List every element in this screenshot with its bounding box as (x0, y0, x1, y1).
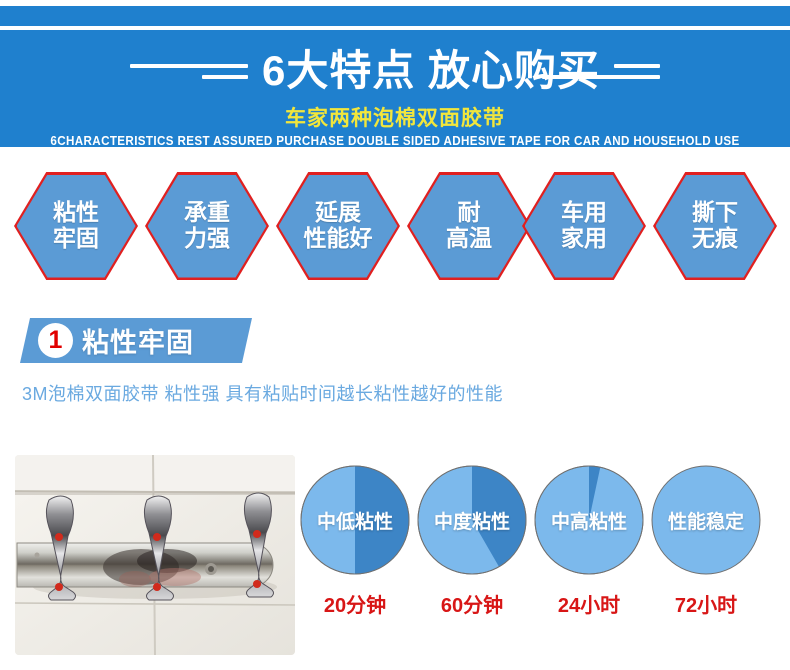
equals-decoration-right-icon (614, 64, 660, 79)
feature-line-1: 延展 (315, 200, 361, 226)
feature-line-1: 撕下 (692, 200, 738, 226)
pie-chart-item-1: 中低粘性 20分钟 (300, 465, 410, 575)
feature-hexagon-6[interactable]: 撕下 无痕 (653, 172, 777, 280)
page-title: 6大特点 放心购买 (248, 46, 614, 96)
product-photo (15, 455, 295, 655)
section-title: 粘性牢固 (82, 318, 194, 363)
feature-hexagon-row: 粘性 牢固 承重 力强 延展 性能好 耐 高温 (0, 172, 790, 280)
pie-chart-3: 中高粘性 (534, 465, 644, 575)
header-subtitle: 车家两种泡棉双面胶带 (0, 102, 790, 132)
header-banner: 6大特点 放心购买 车家两种泡棉双面胶带 6CHARACTERISTICS RE… (0, 30, 790, 147)
pie-chart-4-svg (651, 465, 761, 575)
pie-chart-2-svg (417, 465, 527, 575)
pie-chart-item-3: 中高粘性 24小时 (534, 465, 644, 575)
feature-hexagon-4[interactable]: 耐 高温 (407, 172, 531, 280)
feature-line-2: 高温 (446, 226, 492, 252)
feature-hexagon-label: 承重 力强 (145, 172, 269, 280)
feature-hexagon-3[interactable]: 延展 性能好 (276, 172, 400, 280)
top-accent-strip (0, 6, 790, 26)
feature-hexagon-5[interactable]: 车用 家用 (522, 172, 646, 280)
feature-line-2: 家用 (561, 226, 607, 252)
pie-chart-4-caption: 72小时 (651, 589, 761, 618)
feature-line-1: 车用 (561, 200, 607, 226)
pie-chart-1-caption: 20分钟 (300, 589, 410, 618)
section-number-badge: 1 (38, 323, 73, 358)
feature-hexagon-label: 延展 性能好 (276, 172, 400, 280)
feature-hexagon-2[interactable]: 承重 力强 (145, 172, 269, 280)
feature-hexagon-label: 撕下 无痕 (653, 172, 777, 280)
feature-hexagon-label: 耐 高温 (407, 172, 531, 280)
feature-line-1: 耐 (458, 200, 481, 226)
pie-chart-3-caption: 24小时 (534, 589, 644, 618)
feature-line-2: 牢固 (53, 226, 99, 252)
hook-rack-photo-illustration (15, 455, 295, 655)
pie-chart-2: 中度粘性 (417, 465, 527, 575)
pie-chart-2-caption: 60分钟 (417, 589, 527, 618)
feature-hexagon-label: 车用 家用 (522, 172, 646, 280)
section-description: 3M泡棉双面胶带 粘性强 具有粘贴时间越长粘性越好的性能 (22, 380, 503, 406)
feature-line-2: 无痕 (692, 226, 738, 252)
product-detail-page: 6大特点 放心购买 车家两种泡棉双面胶带 6CHARACTERISTICS RE… (0, 0, 790, 670)
pie-chart-1-svg (300, 465, 410, 575)
pie-chart-item-4: 性能稳定 72小时 (651, 465, 761, 575)
feature-hexagon-1[interactable]: 粘性 牢固 (14, 172, 138, 280)
pie-chart-4: 性能稳定 (651, 465, 761, 575)
feature-line-1: 粘性 (53, 200, 99, 226)
pie-chart-3-svg (534, 465, 644, 575)
equals-decoration-left-icon (130, 64, 248, 79)
feature-line-2: 性能好 (304, 226, 373, 252)
feature-line-1: 承重 (184, 200, 230, 226)
header-title-row: 6大特点 放心购买 (0, 46, 790, 96)
pie-chart-item-2: 中度粘性 60分钟 (417, 465, 527, 575)
feature-hexagon-label: 粘性 牢固 (14, 172, 138, 280)
adhesion-timeline-charts: 中低粘性 20分钟 中度粘性 60分钟 (300, 465, 780, 650)
feature-line-2: 力强 (184, 226, 230, 252)
header-english-tagline: 6CHARACTERISTICS REST ASSURED PURCHASE D… (28, 134, 763, 147)
pie-chart-1: 中低粘性 (300, 465, 410, 575)
